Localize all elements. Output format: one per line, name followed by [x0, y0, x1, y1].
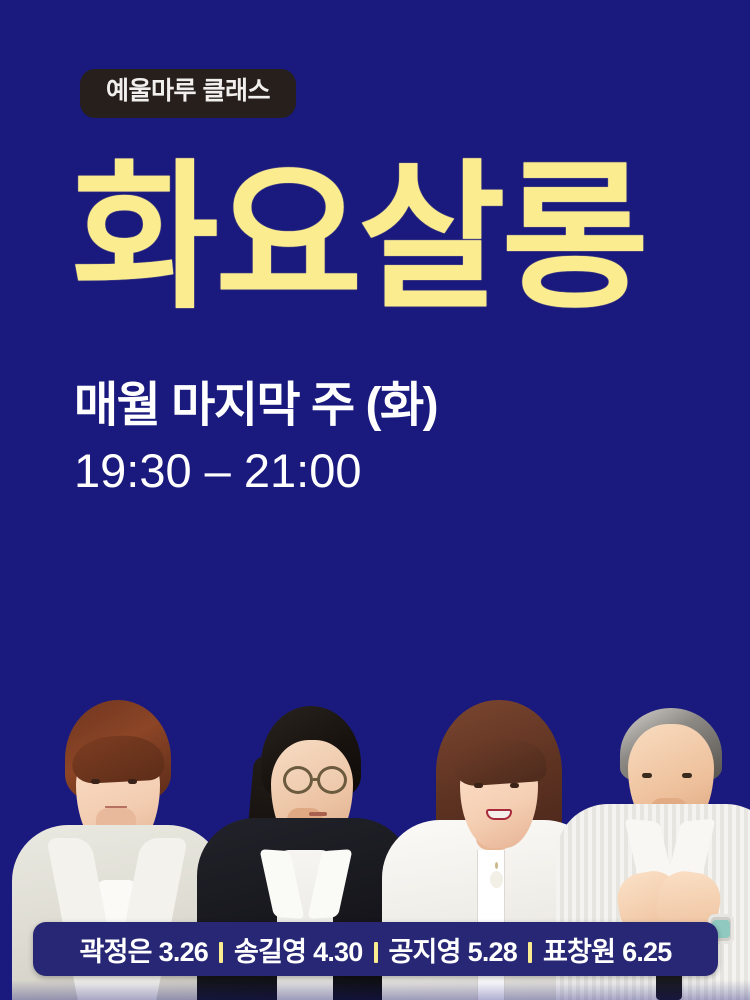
separator-icon	[528, 942, 532, 963]
speaker-date-4: 6.25	[622, 937, 671, 968]
speaker-name-2: 송길영	[234, 930, 306, 969]
speaker-name-1: 곽정은	[80, 930, 152, 969]
eye-right	[510, 783, 519, 788]
speaker-name-4: 표창원	[543, 930, 615, 969]
speaker-lineup-banner: 곽정은 3.26 송길영 4.30 공지영 5.28 표창원 6.25	[33, 922, 718, 976]
separator-icon	[374, 942, 378, 963]
glasses-lens-right	[317, 766, 347, 794]
eye-left	[91, 779, 100, 784]
separator-icon	[219, 942, 223, 963]
eye-left	[474, 783, 483, 788]
schedule-recurrence: 매월 마지막 주 (화)	[74, 378, 437, 435]
event-poster: 예울마루 클래스 화요살롱 매월 마지막 주 (화) 19:30 – 21:00	[0, 0, 750, 1000]
speaker-entry-1: 곽정은 3.26	[80, 930, 208, 969]
glasses-bridge	[313, 778, 319, 781]
eye-right	[128, 779, 137, 784]
speaker-date-3: 5.28	[468, 937, 517, 968]
speaker-entry-3: 공지영 5.28	[389, 930, 517, 969]
schedule-time: 19:30 – 21:00	[74, 445, 437, 497]
speaker-date-2: 4.30	[313, 937, 362, 968]
speaker-name-3: 공지영	[389, 930, 461, 969]
mouth-shape	[309, 812, 327, 816]
class-badge: 예울마루 클래스	[80, 69, 296, 118]
speaker-entry-2: 송길영 4.30	[234, 930, 362, 969]
necklace-pendant	[490, 871, 503, 888]
speaker-date-1: 3.26	[159, 937, 208, 968]
mouth-shape	[486, 809, 512, 820]
glasses-lens-left	[283, 766, 313, 794]
poster-title: 화요살롱	[72, 158, 645, 318]
eye-left	[642, 773, 652, 778]
speaker-lineup-text: 곽정은 3.26 송길영 4.30 공지영 5.28 표창원 6.25	[80, 930, 672, 969]
eye-right	[682, 773, 692, 778]
speaker-entry-4: 표창원 6.25	[543, 930, 671, 969]
schedule-block: 매월 마지막 주 (화) 19:30 – 21:00	[74, 378, 437, 496]
